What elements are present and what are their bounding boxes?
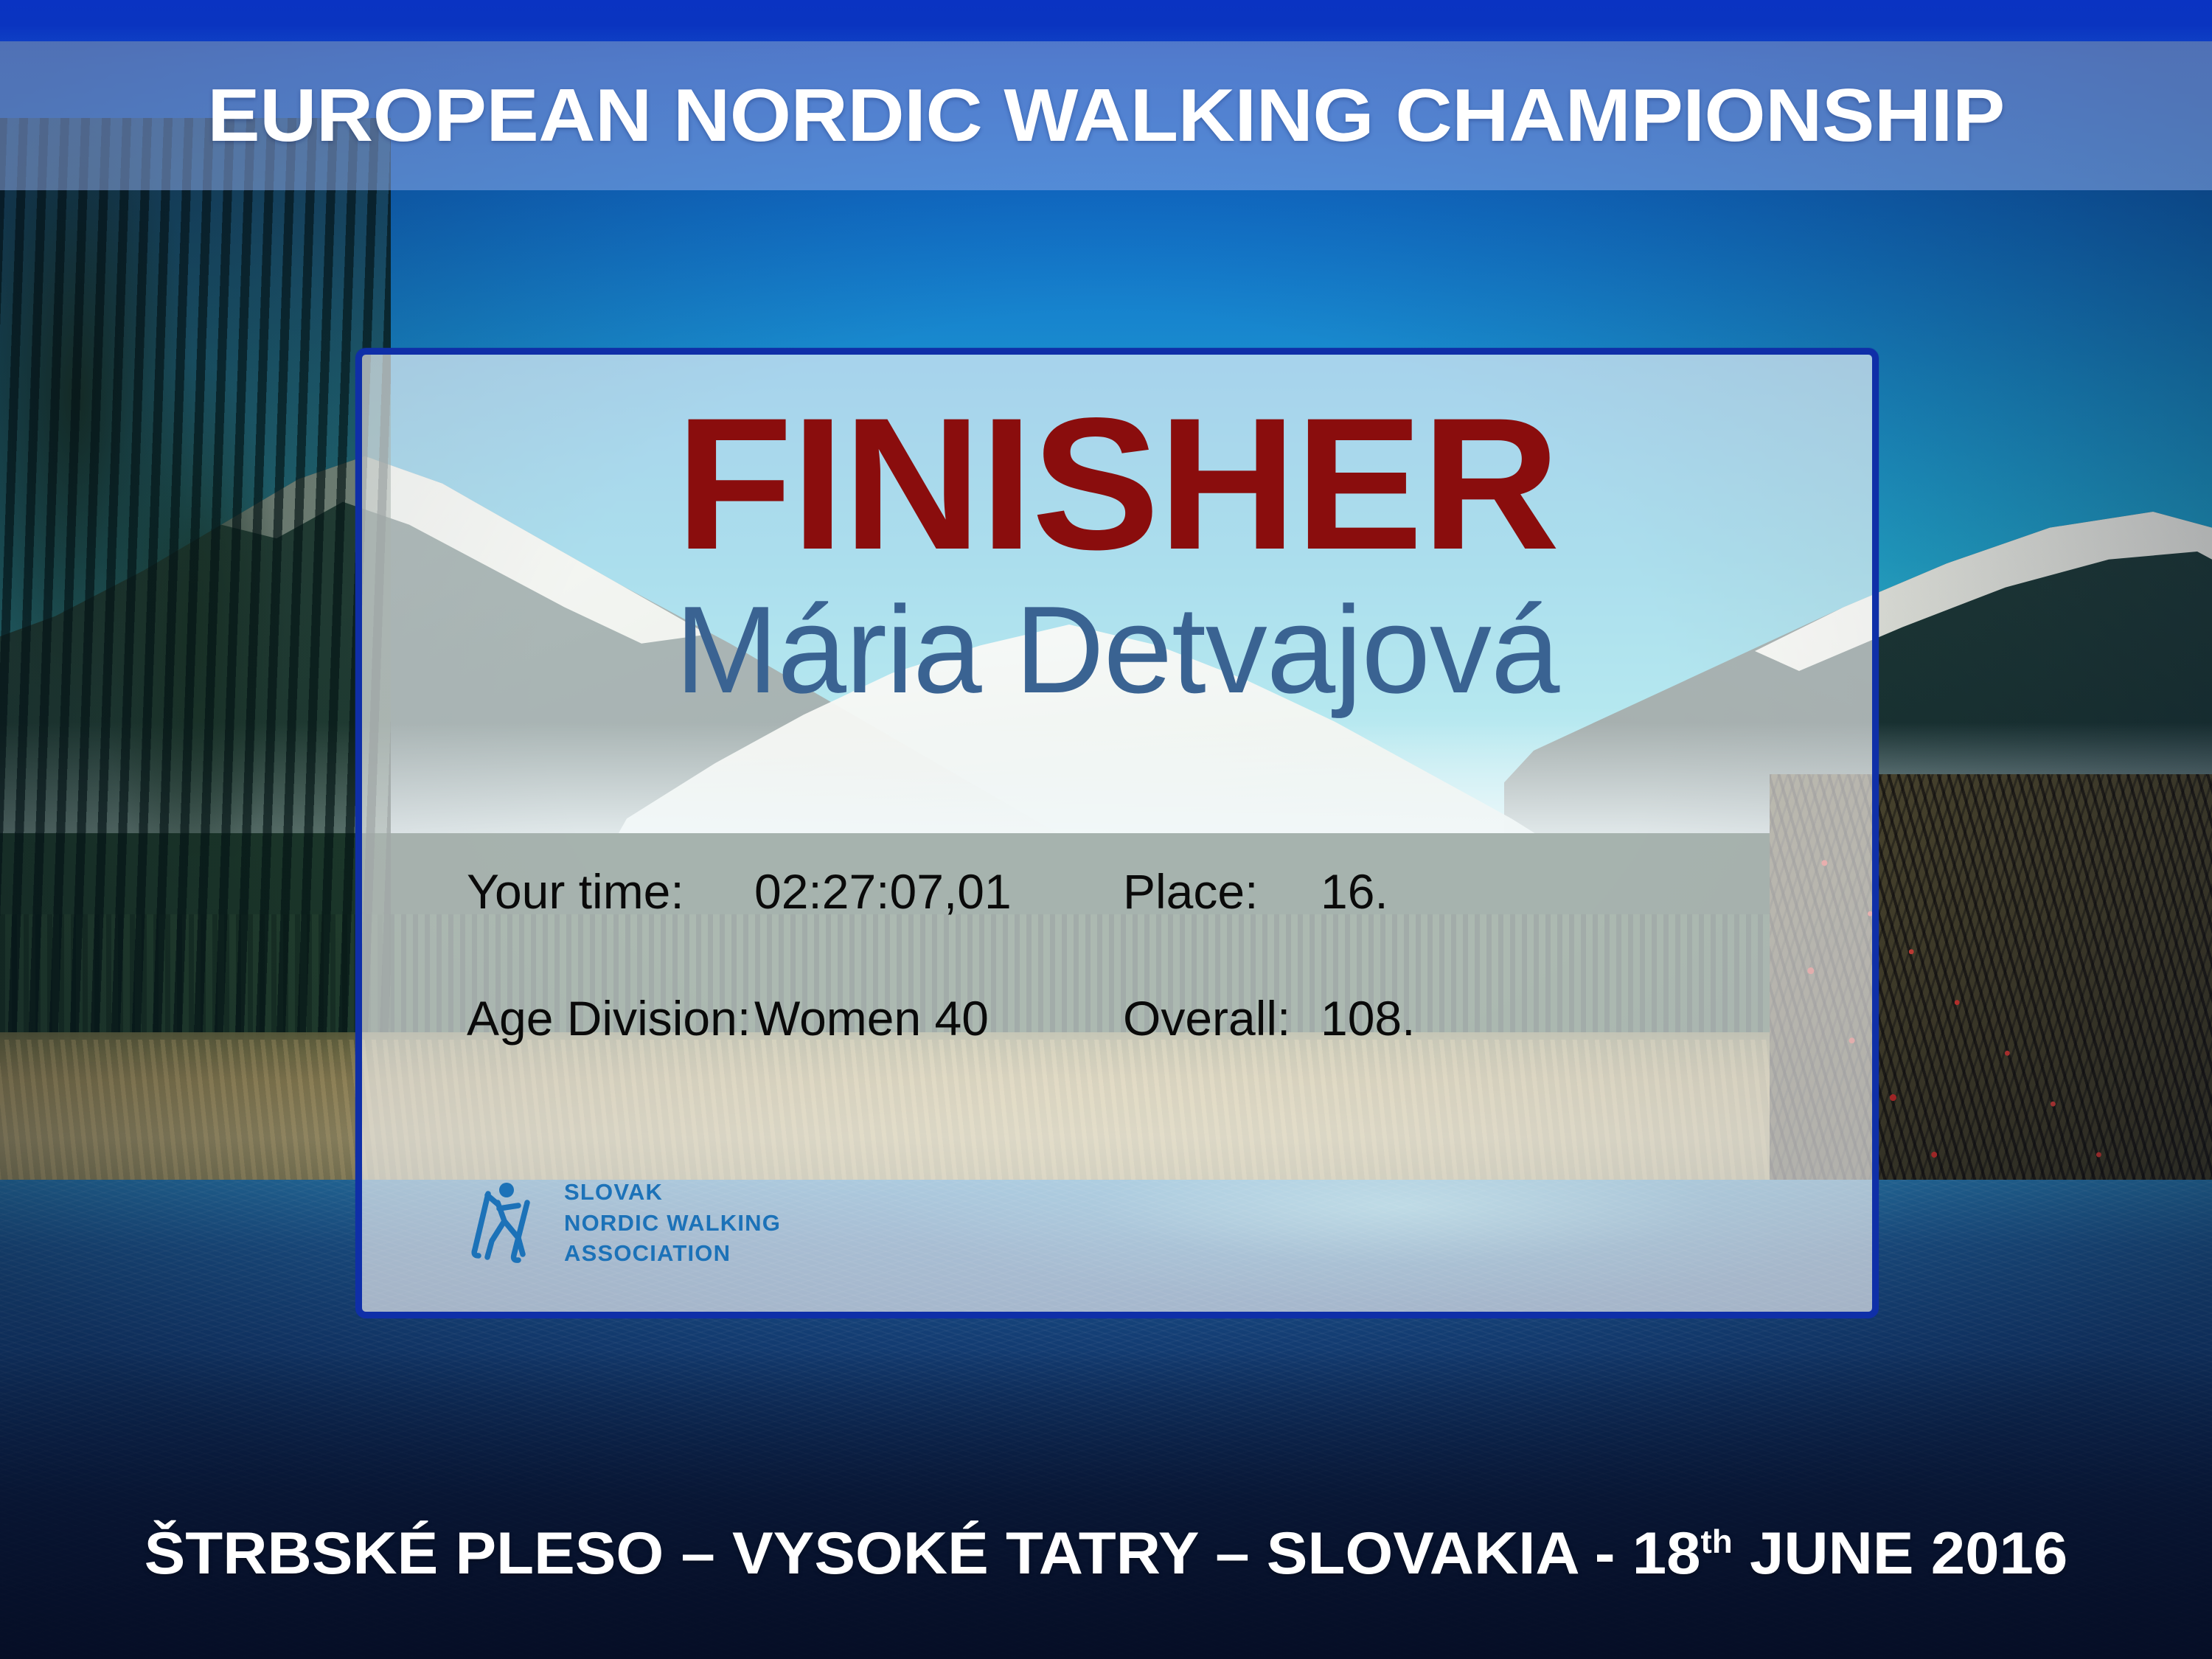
logo-line-2: NORDIC WALKING: [564, 1208, 781, 1239]
association-logo: SLOVAK NORDIC WALKING ASSOCIATION: [465, 1177, 781, 1269]
walker-head: [499, 1183, 514, 1197]
place-value: 16.: [1321, 863, 1388, 919]
overall-value: 108.: [1321, 990, 1415, 1046]
certificate-content: FINISHER Mária Detvajová Your time: 02:2…: [362, 355, 1872, 1312]
logo-line-3: ASSOCIATION: [564, 1238, 781, 1269]
time-value: 02:27:07,01: [754, 863, 1123, 919]
time-label: Your time:: [467, 863, 754, 919]
overall-label: Overall:: [1123, 990, 1321, 1046]
certificate-poster: EUROPEAN NORDIC WALKING CHAMPIONSHIP FIN…: [0, 0, 2212, 1659]
place-label: Place:: [1123, 863, 1321, 919]
athlete-name: Mária Detvajová: [362, 583, 1872, 717]
nordic-walker-icon: [465, 1180, 548, 1266]
finisher-certificate-card: FINISHER Mária Detvajová Your time: 02:2…: [355, 348, 1879, 1318]
footer-date: JUNE 2016: [1733, 1520, 2068, 1587]
event-title: EUROPEAN NORDIC WALKING CHAMPIONSHIP: [0, 41, 2212, 190]
result-row-time: Your time: 02:27:07,01 Place: 16.: [467, 863, 1735, 934]
result-details: Your time: 02:27:07,01 Place: 16. Age Di…: [467, 863, 1735, 1061]
association-name: SLOVAK NORDIC WALKING ASSOCIATION: [564, 1177, 781, 1269]
footer-ordinal: th: [1701, 1524, 1733, 1560]
event-location-date: ŠTRBSKÉ PLESO – VYSOKÉ TATRY – SLOVAKIA …: [0, 1520, 2212, 1588]
header-accent-strip: [0, 0, 2212, 41]
bottom-shadow-gradient: [0, 1349, 2212, 1659]
age-division-value: Women 40: [754, 990, 1123, 1046]
status-heading: FINISHER: [355, 390, 1879, 578]
result-row-division: Age Division: Women 40 Overall: 108.: [467, 990, 1735, 1061]
logo-line-1: SLOVAK: [564, 1177, 781, 1208]
age-division-label: Age Division:: [467, 990, 754, 1046]
footer-location: ŠTRBSKÉ PLESO – VYSOKÉ TATRY – SLOVAKIA …: [145, 1520, 1701, 1587]
